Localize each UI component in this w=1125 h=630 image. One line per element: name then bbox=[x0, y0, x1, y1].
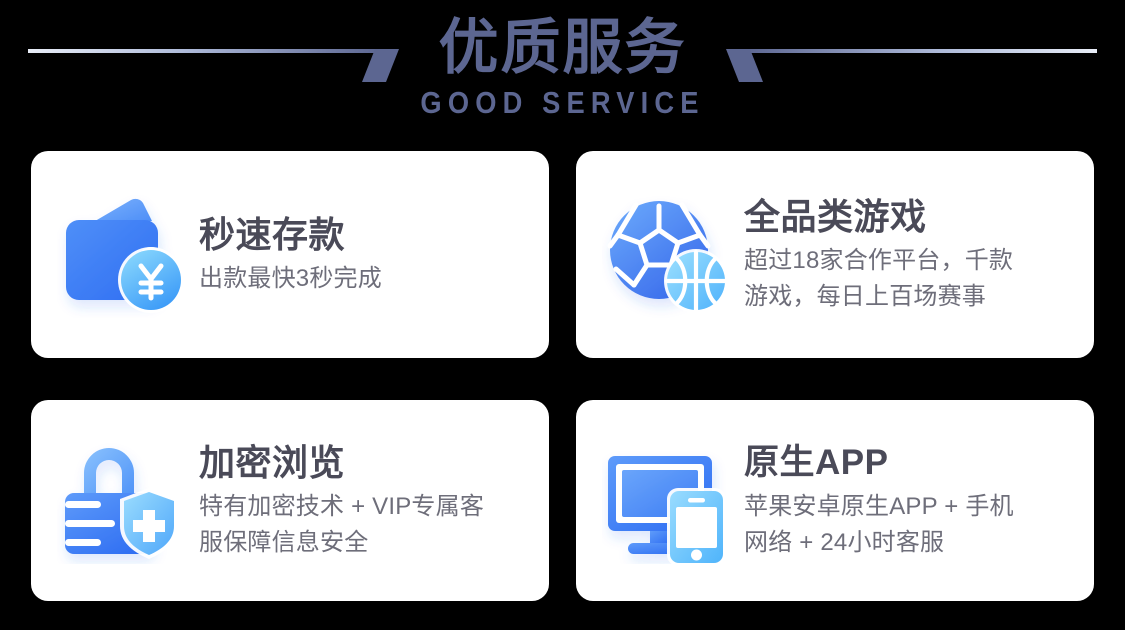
card-title: 全品类游戏 bbox=[744, 194, 1080, 240]
card-subtitle-line: 游戏，每日上百场赛事 bbox=[744, 279, 1080, 315]
card-title: 秒速存款 bbox=[199, 212, 535, 258]
card-title: 原生APP bbox=[744, 440, 1080, 486]
card-title: 加密浏览 bbox=[199, 440, 535, 486]
feature-card-deposit[interactable]: 秒速存款 出款最快3秒完成 bbox=[31, 151, 549, 358]
card-subtitle-line: 超过18家合作平台，千款 bbox=[744, 243, 1080, 279]
lock-shield-icon bbox=[53, 431, 193, 571]
card-subtitle-line: 苹果安卓原生APP + 手机 bbox=[744, 489, 1080, 525]
page-subtitle: GOOD SERVICE bbox=[68, 83, 1058, 121]
monitor-phone-icon bbox=[598, 431, 738, 571]
header-title-block: 优质服务 GOOD SERVICE bbox=[0, 0, 1125, 121]
feature-card-text: 全品类游戏 超过18家合作平台，千款 游戏，每日上百场赛事 bbox=[738, 194, 1080, 315]
feature-card-native-app[interactable]: 原生APP 苹果安卓原生APP + 手机 网络 + 24小时客服 bbox=[576, 400, 1094, 601]
feature-card-text: 秒速存款 出款最快3秒完成 bbox=[193, 212, 535, 297]
feature-card-text: 加密浏览 特有加密技术 + VIP专属客 服保障信息安全 bbox=[193, 440, 535, 561]
card-subtitle: 苹果安卓原生APP + 手机 网络 + 24小时客服 bbox=[744, 486, 1080, 561]
feature-card-games[interactable]: 全品类游戏 超过18家合作平台，千款 游戏，每日上百场赛事 bbox=[576, 151, 1094, 358]
card-subtitle: 特有加密技术 + VIP专属客 服保障信息安全 bbox=[199, 486, 535, 561]
feature-card-grid: 秒速存款 出款最快3秒完成 bbox=[31, 151, 1094, 601]
wallet-yen-icon bbox=[53, 185, 193, 325]
card-subtitle-line: 特有加密技术 + VIP专属客 bbox=[199, 489, 535, 525]
card-subtitle-line: 出款最快3秒完成 bbox=[199, 261, 535, 297]
feature-card-text: 原生APP 苹果安卓原生APP + 手机 网络 + 24小时客服 bbox=[738, 440, 1080, 561]
card-subtitle-line: 服保障信息安全 bbox=[199, 525, 535, 561]
card-subtitle-line: 网络 + 24小时客服 bbox=[744, 525, 1080, 561]
card-subtitle: 出款最快3秒完成 bbox=[199, 258, 535, 297]
feature-card-encryption[interactable]: 加密浏览 特有加密技术 + VIP专属客 服保障信息安全 bbox=[31, 400, 549, 601]
page-title: 优质服务 bbox=[0, 0, 1125, 83]
soccer-basketball-icon bbox=[598, 185, 738, 325]
page-header: 优质服务 GOOD SERVICE bbox=[0, 0, 1125, 150]
card-subtitle: 超过18家合作平台，千款 游戏，每日上百场赛事 bbox=[744, 240, 1080, 315]
